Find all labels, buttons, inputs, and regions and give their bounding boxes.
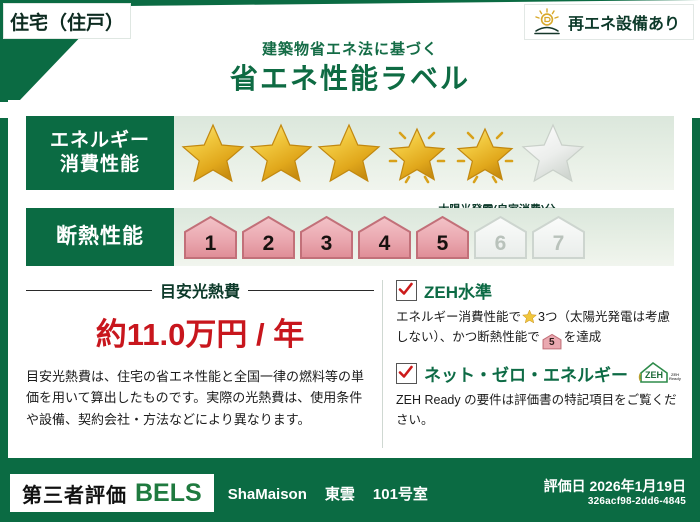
insulation-level-3-achieved: 3 (298, 213, 355, 261)
zeh-desc-part3: を達成 (564, 330, 602, 344)
star-icon-6-empty (520, 121, 586, 185)
room-number: 101号室 (373, 483, 428, 504)
sun-solar-icon (532, 8, 562, 36)
building-identification: ShaMaison 東雲 101号室 (228, 483, 428, 504)
insulation-level-2-value: 2 (263, 232, 275, 261)
title-main: 省エネ性能ラベル (0, 62, 700, 96)
evaluation-uid: 326acf98-2dd6-4845 (544, 495, 686, 509)
zeh-standard-title: ZEH水準 (424, 278, 492, 303)
insulation-level-1-achieved: 1 (182, 213, 239, 261)
insulation-level-7-value: 7 (553, 232, 565, 261)
zeh-netzero-description: ZEH Ready の要件は評価書の特記項目をご覧ください。 (396, 390, 678, 430)
bels-certification-badge: 第三者評価 BELS (10, 474, 214, 512)
building-name: ShaMaison (228, 486, 307, 503)
title-subtitle: 建築物省エネ法に基づく (0, 40, 700, 60)
zeh-standard-header: ZEH水準 (396, 278, 678, 303)
checkbox-checked-icon-zeh-standard (396, 280, 417, 301)
checkbox-checked-icon-net-zero (396, 363, 417, 384)
energy-label-line1: エネルギー (50, 129, 150, 153)
zeh-desc-part1: エネルギー消費性能で (396, 310, 521, 324)
energy-performance-label: エネルギー 消費性能 (26, 116, 174, 190)
insulation-level-3-value: 3 (321, 232, 333, 261)
utility-cost-note: 目安光熱費は、住宅の省エネ性能と全国一律の燃料等の単価を用いて算出したものです。… (26, 366, 374, 430)
zeh-item-standard: ZEH水準 エネルギー消費性能で3つ（太陽光発電は考慮しない）、かつ断熱性能で5… (396, 278, 678, 350)
renewable-badge-label: 再エネ設備あり (568, 10, 680, 34)
insulation-performance-label: 断熱性能 (26, 208, 174, 266)
footer-bar: 第三者評価 BELS ShaMaison 東雲 101号室 評価日 2026年1… (0, 464, 700, 522)
star-icon-1-filled (180, 121, 246, 185)
building-area: 東雲 (325, 483, 355, 504)
inline-house-value: 5 (542, 333, 562, 352)
utility-cost-value: 約11.0万円 / 年 (26, 309, 374, 354)
third-party-label: 第三者評価 (22, 479, 127, 508)
inline-house-badge-icon: 5 (542, 333, 562, 350)
insulation-levels-track: 1 2 3 4 (174, 208, 674, 266)
star-icon-4-filled-solar (384, 121, 450, 185)
insulation-level-6-value: 6 (495, 232, 507, 261)
utility-cost-header: 目安光熱費 (26, 278, 374, 302)
energy-performance-row: エネルギー 消費性能 (26, 116, 674, 190)
zeh-ready-logo-icon: ZEH ZEH Ready (637, 360, 683, 386)
insulation-performance-row: 断熱性能 1 (26, 208, 674, 266)
cost-rule-left (26, 290, 152, 291)
star-icon-2-filled (248, 121, 314, 185)
zeh-netzero-title: ネット・ゼロ・エネルギー (424, 361, 628, 386)
insulation-level-5-value: 5 (437, 232, 449, 261)
cost-rule-right (248, 290, 374, 291)
category-tag: 住宅（住戸） (3, 3, 131, 39)
insulation-level-7-not-achieved: 7 (530, 213, 587, 261)
insulation-level-4-value: 4 (379, 232, 391, 261)
label-title: 建築物省エネ法に基づく 省エネ性能ラベル (0, 40, 700, 96)
zeh-standard-description: エネルギー消費性能で3つ（太陽光発電は考慮しない）、かつ断熱性能で5を達成 (396, 307, 678, 350)
energy-label-line2: 消費性能 (50, 153, 150, 177)
evaluation-meta: 評価日 2026年1月19日 326acf98-2dd6-4845 (544, 478, 686, 509)
bels-logo-text: BELS (135, 479, 202, 508)
insulation-level-6-not-achieved: 6 (472, 213, 529, 261)
star-icon-3-filled (316, 121, 382, 185)
zeh-criteria-column: ZEH水準 エネルギー消費性能で3つ（太陽光発電は考慮しない）、かつ断熱性能で5… (396, 278, 678, 440)
vertical-divider (382, 280, 383, 448)
evaluation-date: 評価日 2026年1月19日 (544, 478, 686, 495)
zeh-item-net-zero: ネット・ゼロ・エネルギー ZEH ZEH Ready ZEH Ready の要件… (396, 360, 678, 430)
label-main-card: エネルギー 消費性能 (8, 100, 692, 458)
insulation-level-2-achieved: 2 (240, 213, 297, 261)
svg-text:Ready: Ready (669, 376, 682, 381)
zeh-netzero-header: ネット・ゼロ・エネルギー ZEH ZEH Ready (396, 360, 678, 386)
insulation-level-5-achieved: 5 (414, 213, 471, 261)
utility-cost-block: 目安光熱費 約11.0万円 / 年 目安光熱費は、住宅の省エネ性能と全国一律の燃… (26, 278, 374, 430)
svg-text:ZEH: ZEH (645, 370, 663, 380)
utility-cost-title: 目安光熱費 (160, 278, 240, 302)
inline-star-icon (522, 309, 537, 324)
bels-energy-label: 住宅（住戸） 再エネ設備あり 建築物省エネ法に基づく 省エネ性能ラベル (0, 0, 700, 522)
renewable-equipment-badge: 再エネ設備あり (524, 4, 694, 40)
energy-stars-track (174, 116, 674, 190)
insulation-level-4-achieved: 4 (356, 213, 413, 261)
insulation-level-1-value: 1 (205, 232, 217, 261)
star-icon-5-filled-solar (452, 121, 518, 185)
